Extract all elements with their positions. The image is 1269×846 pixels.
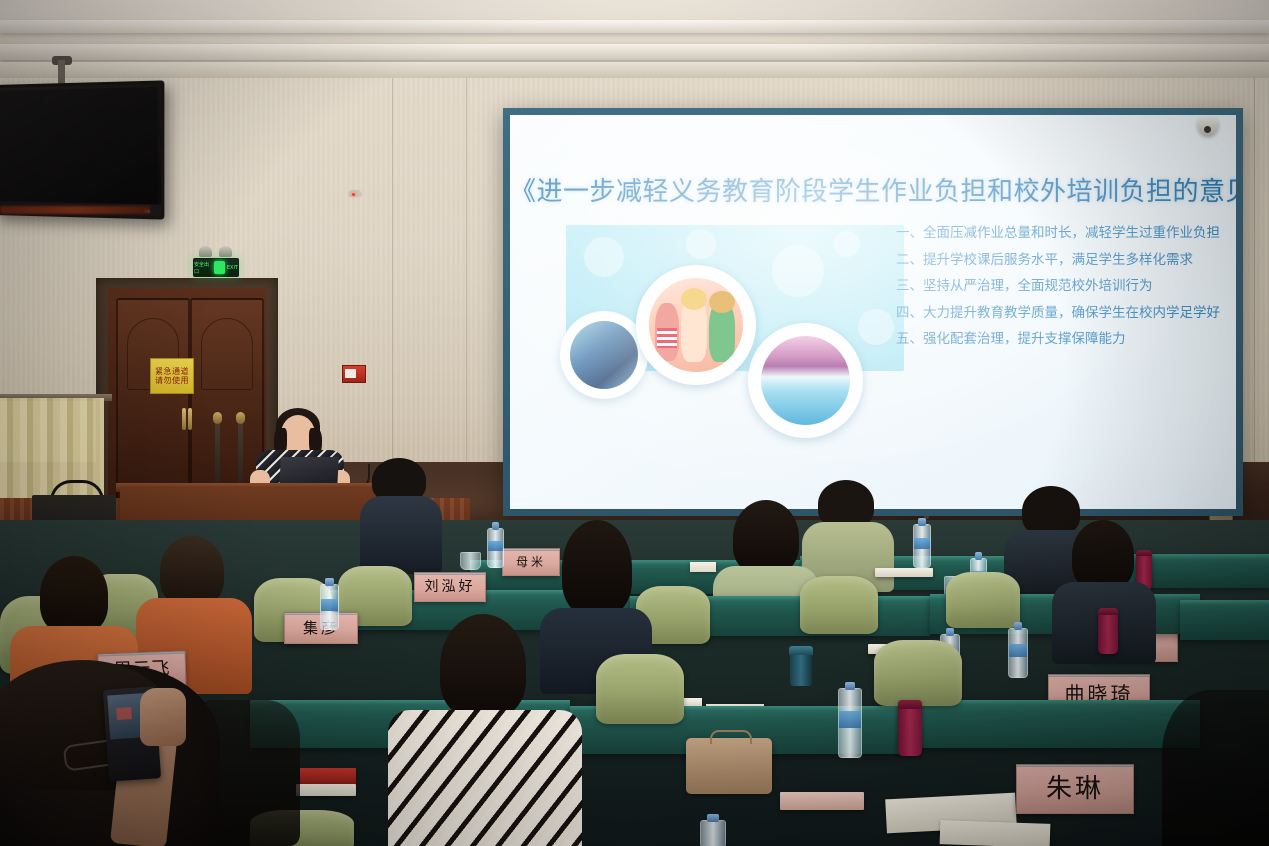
bubble-decor: [584, 237, 624, 277]
smoke-detector-led-icon: [352, 193, 355, 196]
ceiling-beam: [0, 44, 1269, 60]
attendee-hair: [733, 500, 799, 574]
foreground-right-silhouette: [1162, 690, 1269, 846]
water-bottle[interactable]: [913, 524, 931, 568]
bottle-label: [488, 541, 503, 551]
wall-panel-seam: [466, 78, 467, 510]
child-figure: [709, 301, 735, 363]
photo-left-image: [570, 321, 639, 390]
bottle-cap: [845, 682, 856, 690]
bottle-label: [1009, 644, 1027, 656]
thermos-flask[interactable]: [1098, 608, 1118, 654]
bottle-label: [839, 711, 861, 729]
tumbler-lid: [789, 646, 813, 655]
slide-bullet: 二、提升学校课后服务水平，满足学生多样化需求: [896, 254, 1226, 268]
water-bottle[interactable]: [838, 688, 862, 758]
water-bottle[interactable]: [320, 584, 339, 630]
wall-display-panel[interactable]: [0, 80, 164, 219]
fire-alarm-call-point[interactable]: [342, 365, 366, 383]
bubble-decor: [772, 245, 824, 297]
ceiling-beam: [0, 20, 1269, 33]
desk-row-b: [1180, 600, 1269, 640]
smoke-detector-icon: [348, 190, 362, 197]
child-figure: [655, 303, 679, 361]
photo-circle-right: [748, 323, 863, 438]
bottle-cap: [325, 578, 333, 586]
attendee-hair: [1072, 520, 1134, 590]
placard-top-edge: [1016, 764, 1134, 767]
bottle-cap: [975, 552, 982, 560]
bottle-cap: [946, 628, 955, 636]
slide-bullet: 一、全面压减作业总量和时长，减轻学生过重作业负担: [896, 227, 1226, 241]
ceiling: [0, 0, 1269, 62]
thermos-flask[interactable]: [898, 700, 922, 756]
microphone-head-icon: [236, 412, 245, 424]
slide-bullet: 四、大力提升教育教学质量，确保学生在校内学足学好: [896, 307, 1226, 321]
placard-name: 朱琳: [1046, 776, 1104, 802]
slide-bullet-list: 一、全面压减作业总量和时长，减轻学生过重作业负担 二、提升学校课后服务水平，满足…: [896, 227, 1226, 360]
slide-artwork: [558, 223, 908, 458]
attendee-hair: [40, 556, 108, 634]
bottle-label: [914, 538, 930, 549]
wall-panel-seam: [392, 78, 393, 510]
slide-body: 一、全面压减作业总量和时长，减轻学生过重作业负担 二、提升学校课后服务水平，满足…: [538, 223, 1226, 501]
ceiling-cornice: [0, 62, 1269, 78]
chair[interactable]: [596, 654, 684, 724]
emergency-lamp-icon: [199, 246, 212, 257]
door-notice-sign: 紧急通道 请勿使用: [150, 358, 194, 394]
book[interactable]: [300, 768, 356, 784]
door-handle[interactable]: [188, 408, 192, 430]
book[interactable]: [780, 792, 864, 810]
attendee-body: [360, 496, 442, 574]
exit-sign-label-cn: 安全出口: [194, 261, 212, 275]
placard-top-edge: [1048, 674, 1150, 677]
child-figure: [681, 297, 707, 363]
slide-bullet: 五、强化配套治理，提升支撑保障能力: [896, 333, 1226, 347]
water-bottle[interactable]: [487, 528, 504, 568]
bottle-cap: [492, 522, 499, 530]
water-bottle[interactable]: [1008, 628, 1028, 678]
desk-edge: [1180, 600, 1269, 605]
desk-row-c: [900, 700, 1200, 748]
bottle-cap: [1014, 622, 1023, 630]
microphone-stand: [215, 418, 220, 488]
bubble-decor: [858, 309, 894, 345]
tv-under-reflection: [0, 206, 150, 214]
handbag[interactable]: [686, 738, 772, 794]
placard-name: 刘泓好: [425, 580, 476, 594]
notebook[interactable]: [296, 784, 356, 796]
bubble-decor: [686, 229, 716, 259]
drinking-cup[interactable]: [460, 552, 481, 570]
desk-edge: [250, 700, 570, 705]
conference-room-scene: 紧急通道 请勿使用 安全出口 EXIT 《进一步减轻义务教育阶段学生作业负担和校…: [0, 0, 1269, 846]
tv-screen: [0, 87, 158, 204]
bottle-cap: [707, 814, 719, 822]
emergency-lamp-icon: [219, 246, 232, 257]
running-man-icon: [214, 261, 225, 274]
travel-tumbler[interactable]: [790, 646, 812, 686]
thermos-lid: [1136, 550, 1152, 556]
water-bottle[interactable]: [700, 820, 726, 846]
photo-circle-left: [560, 311, 648, 399]
wall-panel-seam: [1254, 78, 1255, 510]
placard-top-edge: [502, 548, 560, 551]
bubble-decor: [834, 231, 860, 257]
attendee-hair: [440, 614, 526, 718]
name-placard: 刘泓好: [414, 572, 486, 602]
paper-sheet[interactable]: [940, 820, 1051, 846]
attendee-hair: [160, 536, 224, 606]
thermos-lid: [898, 700, 922, 709]
door-notice-line-2: 请勿使用: [155, 376, 189, 385]
chair[interactable]: [946, 572, 1020, 628]
name-placard: 母米: [502, 548, 560, 576]
attendee-body: [388, 710, 582, 846]
photo-right-image: [761, 336, 851, 426]
exit-sign: 安全出口 EXIT: [193, 258, 239, 277]
microphone-head-icon: [213, 412, 222, 424]
projection-screen-frame: 《进一步减轻义务教育阶段学生作业负担和校外培训负担的意见》: [503, 108, 1243, 516]
slide-bullet: 三、坚持从严治理，全面规范校外培训行为: [896, 280, 1226, 294]
chair[interactable]: [874, 640, 962, 706]
projection-screen: 《进一步减轻义务教育阶段学生作业负担和校外培训负担的意见》: [510, 115, 1236, 509]
paper-sheet[interactable]: [690, 562, 716, 572]
notebook[interactable]: [875, 568, 933, 577]
attendee-hair: [562, 520, 632, 616]
placard-top-edge: [414, 572, 486, 575]
placard-name: 母米: [516, 556, 546, 568]
bottle-label: [321, 599, 338, 610]
door-handle[interactable]: [182, 408, 186, 430]
exit-sign-label-en: EXIT: [227, 265, 238, 271]
foreground-attendee-hand: [140, 688, 186, 746]
bottle-cap: [918, 518, 926, 526]
thermos-lid: [1098, 608, 1118, 615]
photo-circle-center: [636, 265, 756, 385]
chair[interactable]: [800, 576, 878, 634]
slide-title: 《进一步减轻义务教育阶段学生作业负担和校外培训负担的意见》: [510, 171, 1236, 208]
photo-center-image: [649, 278, 743, 372]
attendee-hair: [1022, 486, 1080, 536]
door-notice-line-1: 紧急通道: [155, 367, 189, 376]
microphone-stand: [238, 418, 243, 488]
attendee-hair: [818, 480, 874, 528]
name-placard: 朱琳: [1016, 764, 1134, 814]
